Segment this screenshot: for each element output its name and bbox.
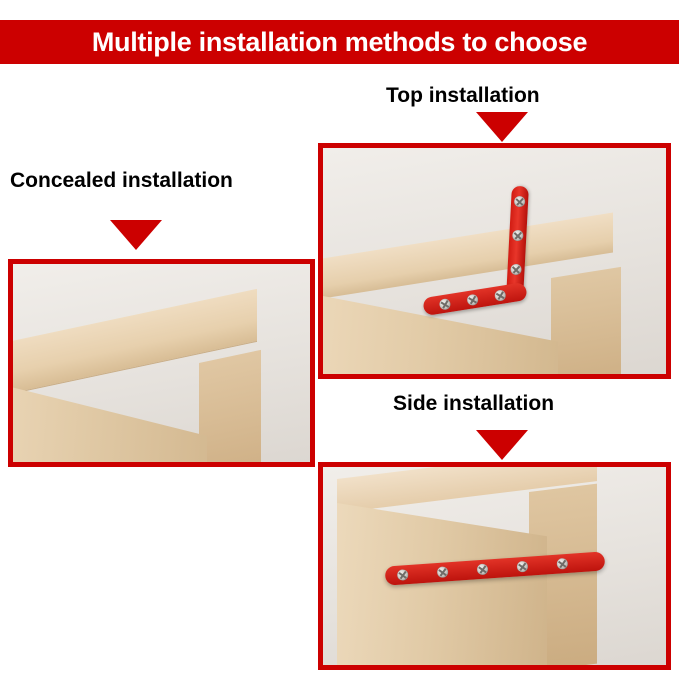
page-title: Multiple installation methods to choose [92, 27, 587, 58]
screw [439, 298, 452, 311]
label-side-installation: Side installation [393, 392, 554, 416]
screw [517, 561, 529, 573]
photo-top-installation [318, 143, 671, 379]
screw [466, 294, 479, 307]
screw [512, 230, 524, 242]
screw [477, 564, 489, 576]
pointer-side-icon [476, 430, 528, 460]
wood-panel-side [199, 350, 261, 467]
screw [494, 289, 507, 302]
label-concealed-installation: Concealed installation [10, 169, 233, 193]
header-banner: Multiple installation methods to choose [0, 20, 679, 64]
screw [397, 569, 409, 581]
screw [556, 558, 568, 570]
pointer-top-icon [476, 112, 528, 142]
screw [510, 264, 522, 276]
pointer-concealed-icon [110, 220, 162, 250]
label-top-installation: Top installation [386, 84, 540, 108]
screw [437, 566, 449, 578]
wood-panel-side [551, 267, 621, 379]
screw [514, 196, 526, 208]
photo-concealed-installation [8, 259, 315, 467]
photo-side-installation [318, 462, 671, 670]
